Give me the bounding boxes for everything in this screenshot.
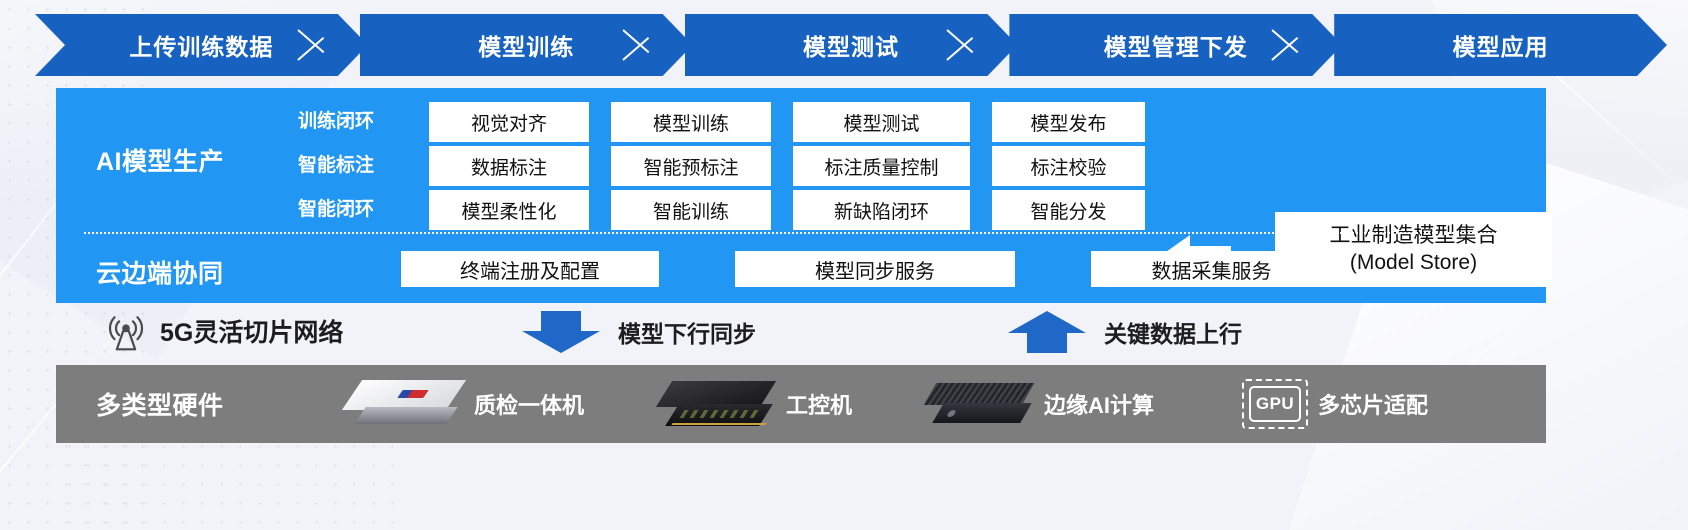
- process-step-label: 模型测试: [803, 28, 899, 62]
- row-label-training-loop: 训练闭环: [298, 102, 374, 142]
- platform-panel: AI模型生产 训练闭环 智能标注 智能闭环 视觉对齐 模型训练 模型测试 模型发…: [56, 88, 1546, 303]
- process-step-label: 模型训练: [478, 28, 574, 62]
- cloud-edge-box[interactable]: 模型同步服务: [735, 251, 1015, 287]
- flow-downlink: 模型下行同步: [522, 311, 756, 353]
- process-step-bar: 上传训练数据 模型训练 模型测试 模型管理下发 模型应用: [35, 14, 1659, 76]
- chevron-separator-icon: [298, 14, 338, 76]
- cloud-edge-box[interactable]: 终端注册及配置: [401, 251, 659, 287]
- row-label-smart-loop: 智能闭环: [298, 190, 374, 230]
- grid-cell[interactable]: 模型训练: [611, 102, 771, 142]
- grid-cell[interactable]: 模型测试: [793, 102, 970, 142]
- cloud-edge-section: 云边端协同 终端注册及配置 模型同步服务 数据采集服务: [56, 238, 1546, 303]
- process-step-label: 模型管理下发: [1104, 28, 1248, 62]
- hardware-item-quality-inspection[interactable]: 质检一体机: [346, 378, 584, 430]
- flow-uplink: 关键数据上行: [1008, 311, 1242, 353]
- section-divider: [84, 232, 1518, 234]
- grid-cell[interactable]: 数据标注: [429, 146, 589, 186]
- industrial-pc-icon: [660, 378, 776, 430]
- hardware-item-label: 边缘AI计算: [1044, 388, 1154, 420]
- grid-cell[interactable]: 智能训练: [611, 190, 771, 230]
- process-step-label: 上传训练数据: [129, 28, 273, 62]
- grid-cell[interactable]: 智能预标注: [611, 146, 771, 186]
- grid-row: 数据标注 智能预标注 标注质量控制 标注校验: [429, 146, 1145, 186]
- edge-ai-box-icon: [924, 381, 1034, 427]
- process-step-1[interactable]: 上传训练数据: [35, 14, 368, 76]
- hardware-item-industrial-pc[interactable]: 工控机: [660, 378, 852, 430]
- grid-cell[interactable]: 标注校验: [992, 146, 1145, 186]
- cloud-edge-box[interactable]: 数据采集服务: [1091, 251, 1332, 287]
- network-band: 5G灵活切片网络 模型下行同步 关键数据上行: [56, 303, 1546, 363]
- wireless-signal-icon: [104, 309, 148, 353]
- hardware-item-label: 质检一体机: [474, 388, 584, 420]
- grid-row: 模型柔性化 智能训练 新缺陷闭环 智能分发: [429, 190, 1145, 230]
- hardware-item-label: 工控机: [786, 388, 852, 420]
- network-label: 5G灵活切片网络: [160, 313, 343, 349]
- ai-production-grid: 视觉对齐 模型训练 模型测试 模型发布 数据标注 智能预标注 标注质量控制 标注…: [429, 102, 1145, 234]
- ai-production-title: AI模型生产: [96, 142, 224, 178]
- grid-cell[interactable]: 模型发布: [992, 102, 1145, 142]
- cloud-edge-title: 云边端协同: [96, 254, 224, 290]
- chevron-separator-icon: [1272, 14, 1312, 76]
- network-label-group: 5G灵活切片网络: [104, 309, 343, 353]
- grid-row: 视觉对齐 模型训练 模型测试 模型发布: [429, 102, 1145, 142]
- hardware-band: 多类型硬件 质检一体机 工控机 边缘AI计算 GPU 多芯片适配: [56, 365, 1546, 443]
- cloud-edge-box-list: 终端注册及配置 模型同步服务 数据采集服务: [401, 251, 1332, 287]
- process-step-3[interactable]: 模型测试: [685, 14, 1018, 76]
- chevron-separator-icon: [623, 14, 663, 76]
- grid-cell[interactable]: 模型柔性化: [429, 190, 589, 230]
- process-step-2[interactable]: 模型训练: [360, 14, 693, 76]
- flow-downlink-label: 模型下行同步: [618, 315, 756, 349]
- grid-cell[interactable]: 新缺陷闭环: [793, 190, 970, 230]
- hardware-item-label: 多芯片适配: [1318, 388, 1428, 420]
- process-step-label: 模型应用: [1453, 28, 1549, 62]
- row-label-smart-annotation: 智能标注: [298, 146, 374, 186]
- ai-production-row-labels: 训练闭环 智能标注 智能闭环: [298, 102, 374, 230]
- gpu-chip-icon: GPU: [1242, 379, 1308, 429]
- gpu-chip-label: GPU: [1249, 386, 1301, 422]
- flow-uplink-label: 关键数据上行: [1104, 315, 1242, 349]
- process-step-4[interactable]: 模型管理下发: [1009, 14, 1342, 76]
- hardware-item-multi-chip[interactable]: GPU 多芯片适配: [1242, 379, 1428, 429]
- grid-cell[interactable]: 视觉对齐: [429, 102, 589, 142]
- ai-production-section: AI模型生产 训练闭环 智能标注 智能闭环 视觉对齐 模型训练 模型测试 模型发…: [56, 88, 1546, 231]
- arrow-up-icon: [1008, 311, 1086, 353]
- hardware-item-edge-ai[interactable]: 边缘AI计算: [924, 381, 1154, 427]
- arrow-down-icon: [522, 311, 600, 353]
- grid-cell[interactable]: 智能分发: [992, 190, 1145, 230]
- process-step-5[interactable]: 模型应用: [1334, 14, 1667, 76]
- rack-server-icon: [346, 378, 464, 430]
- grid-cell[interactable]: 标注质量控制: [793, 146, 970, 186]
- chevron-separator-icon: [947, 14, 987, 76]
- hardware-title: 多类型硬件: [96, 386, 296, 422]
